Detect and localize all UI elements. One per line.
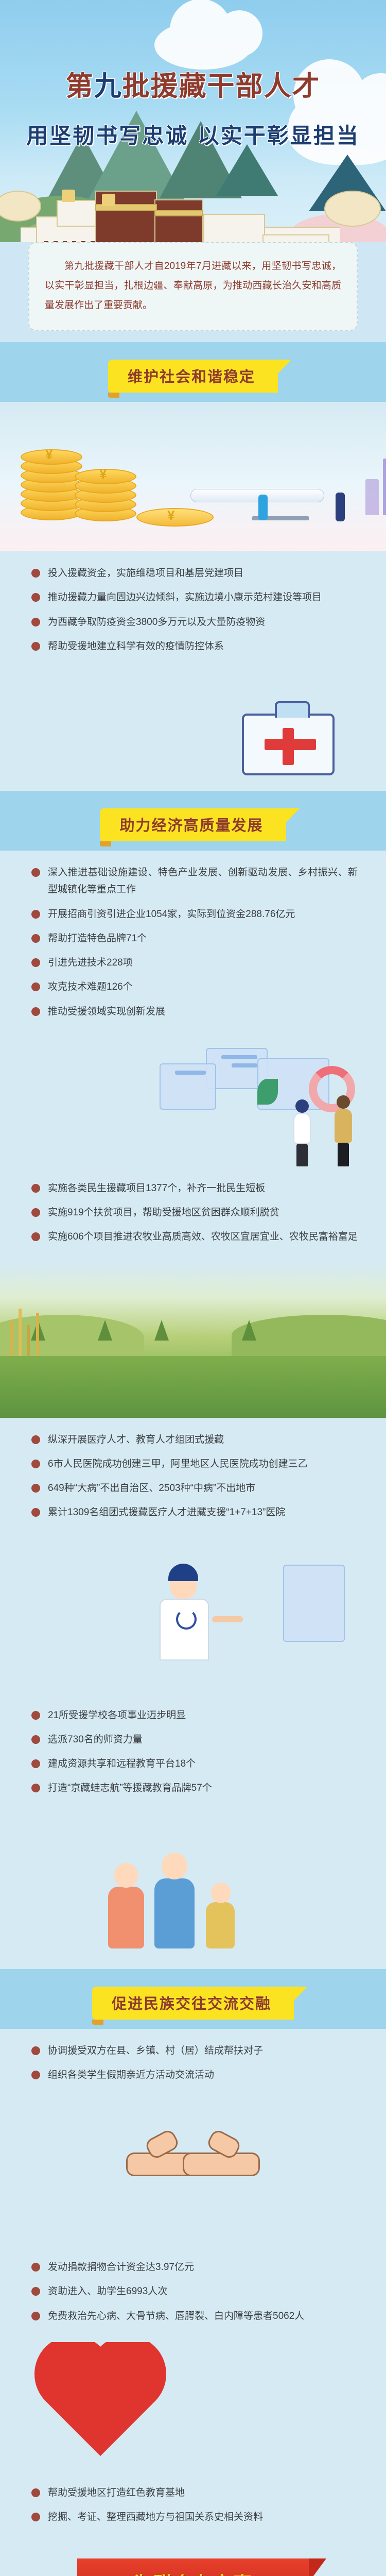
poster-subtitle: 用坚韧书写忠诚 以实干彰显担当 (0, 118, 386, 150)
heart-illustration (0, 2342, 386, 2471)
title-part-2: 批援藏干部人才 (122, 71, 321, 102)
list-item: 649种“大病”不出自治区、2503种“中病”不出地市 (28, 1480, 358, 1497)
section-2-content-a: 深入推进基础设施建设、特色产业发展、创新驱动发展、乡村振兴、新型城镇化等重点工作… (0, 851, 386, 1038)
section-3-bullet-list-b: 发动捐款捐物合计资金达3.97亿元 资助进入、助学生6993人次 免费救治先心病… (28, 2257, 358, 2337)
section-3-band: 促进民族交往交流交融 (0, 1969, 386, 2029)
plant-icon (257, 1079, 278, 1105)
banner-fold-icon (108, 393, 119, 398)
intro-card: 第九批援藏干部人才自2019年7月进藏以来，用坚韧书写忠诚，以实干彰显担当，扎根… (28, 242, 358, 331)
section-2-bullet-list-b: 实施各类民生援藏项目1377个，补齐一批民生短板 实施919个扶贫项目，帮助受援… (28, 1178, 358, 1258)
yuan-symbol-icon: ¥ (167, 507, 174, 523)
list-item: 帮助受援地建立科学有效的疫情防控体系 (28, 638, 358, 655)
section-banner-3: 促进民族交往交流交融 (92, 1987, 294, 2020)
list-item: 资助进入、助学生6993人次 (28, 2283, 358, 2300)
title-accent-number: 九 (94, 71, 122, 102)
banner-fold-icon (92, 2020, 103, 2025)
section-3-content-b: 发动捐款捐物合计资金达3.97亿元 资助进入、助学生6993人次 免费救治先心病… (0, 2245, 386, 2342)
infographic-poster: 第九批援藏干部人才 用坚韧书写忠诚 以实干彰显担当 第九批援藏干部人才自2019… (0, 0, 386, 2576)
list-item: 帮助打造特色品牌71个 (28, 930, 358, 947)
red-banner: 为群众办实事 (77, 2558, 309, 2576)
heart-icon (46, 2347, 155, 2456)
list-item: 引进先进技术228项 (28, 954, 358, 971)
person-illustration (258, 495, 268, 520)
section-1-band: 维护社会和谐稳定 (0, 342, 386, 402)
yuan-symbol-icon: ¥ (99, 466, 107, 482)
section-3-bullet-list-c: 帮助受援地区打造红色教育基地 挖掘、考证、整理西藏地方与祖国关系史相关资料 (28, 2482, 358, 2538)
list-item: 累计1309名组团式援藏医疗人才进藏支援“1+7+13”医院 (28, 1504, 358, 1521)
poster-title: 第九批援藏干部人才 (0, 64, 386, 104)
list-item: 开展招商引资引进企业1054家，实际到位资金288.76亿元 (28, 906, 358, 923)
list-item: 实施606个项目推进农牧业高质高效、农牧区宜居宜业、农牧民富裕富足 (28, 1228, 358, 1245)
section-2-band: 助力经济高质量发展 (0, 791, 386, 851)
section-3-bullet-list-a: 协调援受双方在县、乡镇、村（居）结成帮扶对子 组织各类学生假期亲近方活动交流活动 (28, 2040, 358, 2096)
section-2-content-d: 21所受援学校各项事业迈步明显 选派730名的师资力量 建成资源共享和远程教育平… (0, 1693, 386, 1815)
section-3-content-c: 帮助受援地区打造红色教育基地 挖掘、考证、整理西藏地方与祖国关系史相关资料 (0, 2471, 386, 2544)
list-item: 建成资源共享和远程教育平台18个 (28, 1755, 358, 1772)
list-item: 组织各类学生假期亲近方活动交流活动 (28, 2066, 358, 2083)
handshake-illustration (0, 2101, 386, 2245)
list-item: 6市人民医院成功创建三甲，阿里地区人民医院成功创建三乙 (28, 1455, 358, 1472)
section-banner-2-label: 助力经济高质量发展 (119, 817, 263, 834)
list-item: 选派730名的师资力量 (28, 1731, 358, 1748)
title-part-1: 第 (66, 71, 94, 102)
farmland-illustration (0, 1263, 386, 1418)
list-item: 实施各类民生援藏项目1377个，补齐一批民生短板 (28, 1180, 358, 1197)
train-illustration (190, 489, 324, 502)
list-item: 帮助受援地区打造红色教育基地 (28, 2484, 358, 2501)
list-item: 推动受援领域实现创新发展 (28, 1003, 358, 1020)
family-illustration (0, 1815, 386, 1969)
section-1-bullet-list: 投入援藏资金，实施维稳项目和基层党建项目 推动援藏力量向固边兴边倾斜，实施边境小… (28, 563, 358, 667)
intro-section: 第九批援藏干部人才自2019年7月进藏以来，用坚韧书写忠诚，以实干彰显担当，扎根… (0, 242, 386, 342)
office-teamwork-illustration (0, 1038, 386, 1166)
list-item: 挖掘、考证、整理西藏地方与祖国关系史相关资料 (28, 2509, 358, 2526)
list-item: 推动援藏力量向固边兴边倾斜，实施边境小康示范村建设等项目 (28, 589, 358, 606)
yuan-symbol-icon: ¥ (45, 447, 52, 463)
list-item: 投入援藏资金，实施维稳项目和基层党建项目 (28, 565, 358, 582)
red-banner-label: 为群众办实事 (77, 2558, 309, 2576)
handshake-icon (126, 2132, 260, 2199)
section-banner-1: 维护社会和谐稳定 (108, 360, 278, 393)
cloud-icon (154, 21, 252, 70)
section-2-content-c: 纵深开展医疗人才、教育人才组团式援藏 6市人民医院成功创建三甲，阿里地区人民医院… (0, 1418, 386, 1539)
banner-fold-icon (100, 841, 111, 846)
doctor-illustration (0, 1539, 386, 1693)
section-2-bullet-list-c: 纵深开展医疗人才、教育人才组团式援藏 6市人民医院成功创建三甲，阿里地区人民医院… (28, 1429, 358, 1534)
list-item: 实施919个扶贫项目，帮助受援地区贫困群众顺利脱贫 (28, 1204, 358, 1221)
first-aid-kit-icon (242, 714, 335, 775)
coins-city-illustration: ¥ ¥ ¥ (0, 402, 386, 551)
section-2-bullet-list-d: 21所受援学校各项事业迈步明显 选派730名的师资力量 建成资源共享和远程教育平… (28, 1705, 358, 1809)
list-item: 深入推进基础设施建设、特色产业发展、创新驱动发展、乡村振兴、新型城镇化等重点工作 (28, 864, 358, 899)
list-item: 发动捐款捐物合计资金达3.97亿元 (28, 2259, 358, 2276)
stethoscope-icon (176, 1609, 197, 1630)
red-banner-illustration: 为群众办实事 (0, 2543, 386, 2576)
list-item: 打造“京藏蛙志航”等援藏教育品牌57个 (28, 1780, 358, 1797)
list-item: 攻克技术难题126个 (28, 978, 358, 995)
section-banner-2: 助力经济高质量发展 (100, 808, 286, 841)
list-item: 为西藏争取防疫资金3800多万元以及大量防疫物资 (28, 614, 358, 631)
section-1-content: 投入援藏资金，实施维稳项目和基层党建项目 推动援藏力量向固边兴边倾斜，实施边境小… (0, 551, 386, 672)
list-item: 协调援受双方在县、乡镇、村（居）结成帮扶对子 (28, 2042, 358, 2059)
section-2-bullet-list-a: 深入推进基础设施建设、特色产业发展、创新驱动发展、乡村振兴、新型城镇化等重点工作… (28, 862, 358, 1032)
list-item: 纵深开展医疗人才、教育人才组团式援藏 (28, 1431, 358, 1448)
list-item: 21所受援学校各项事业迈步明显 (28, 1707, 358, 1724)
medical-kit-illustration (0, 672, 386, 791)
section-2-content-b: 实施各类民生援藏项目1377个，补齐一批民生短板 实施919个扶贫项目，帮助受援… (0, 1166, 386, 1263)
section-banner-1-label: 维护社会和谐稳定 (128, 368, 255, 385)
person-illustration (336, 493, 345, 521)
section-3-content-a: 协调援受双方在县、乡镇、村（居）结成帮扶对子 组织各类学生假期亲近方活动交流活动 (0, 2029, 386, 2102)
list-item: 免费救治先心病、大骨节病、唇腭裂、白内障等患者5062人 (28, 2308, 358, 2325)
section-banner-3-label: 促进民族交往交流交融 (112, 1995, 271, 2012)
